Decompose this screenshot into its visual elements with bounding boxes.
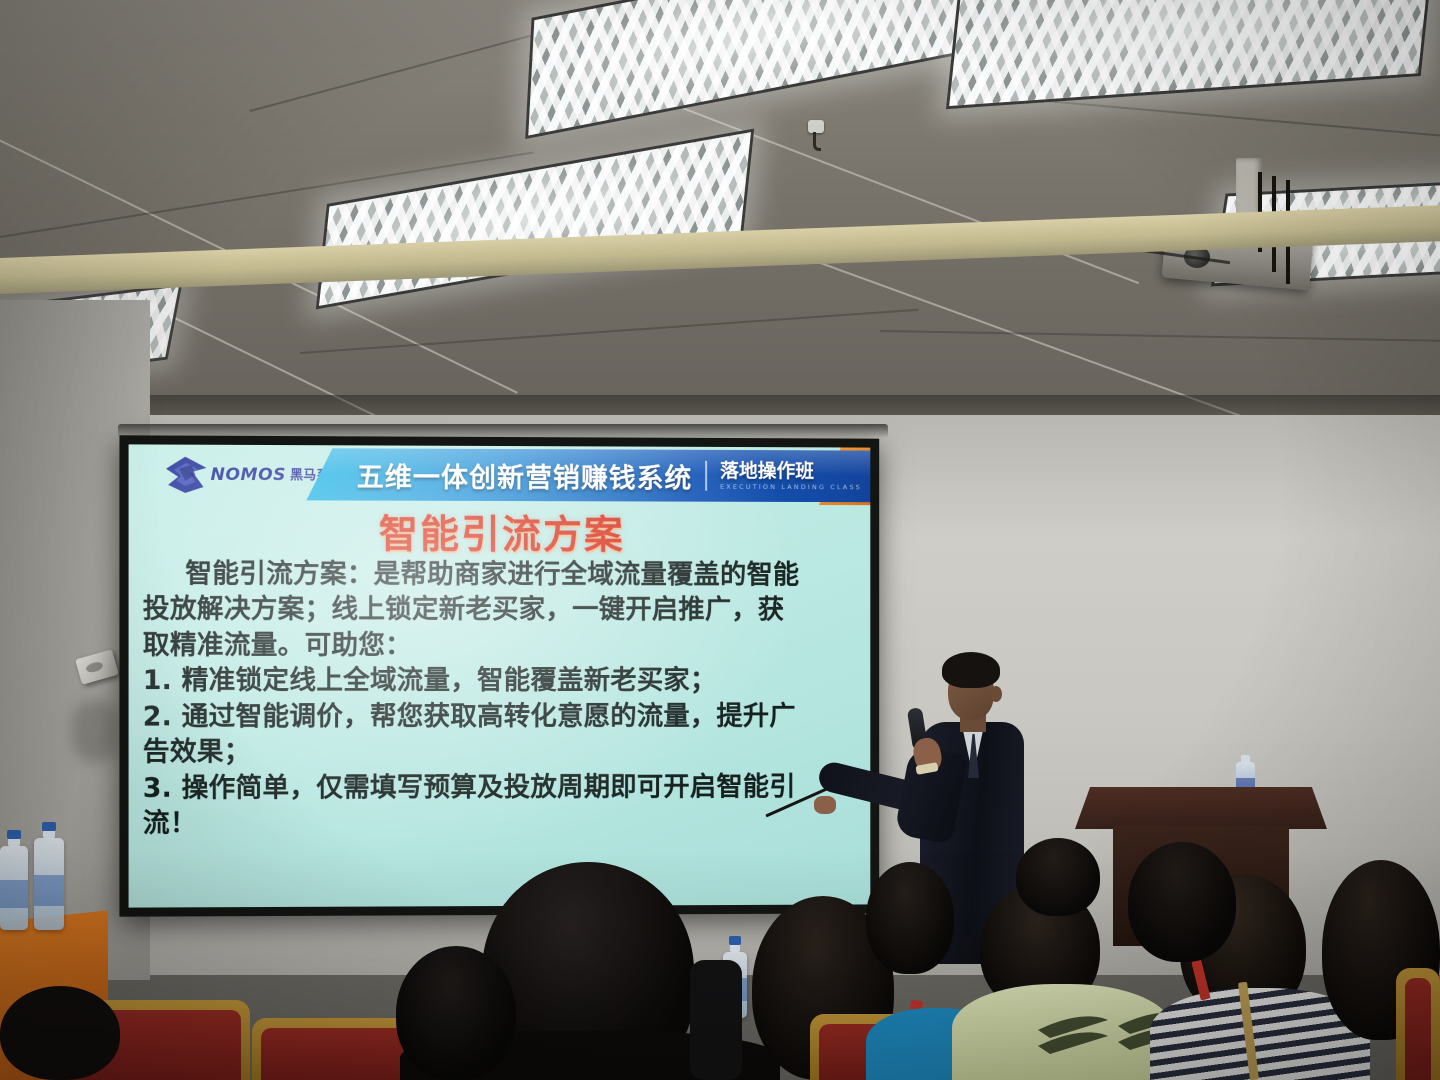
slide-body: 智能引流方案：是帮助商家进行全域流量覆盖的智能 投放解决方案；线上锁定新老买家，…: [143, 557, 859, 842]
slide-paragraph: 投放解决方案；线上锁定新老买家，一键开启推广，获: [143, 593, 859, 628]
slide-paragraph: 智能引流方案：是帮助商家进行全域流量覆盖的智能: [143, 557, 859, 593]
audience-head: [0, 986, 120, 1080]
brand-logo-latin: NOMOS: [211, 466, 286, 483]
conference-room-photo: NOMOS 黑马系统 五维一体创新营销赚钱系统 落地操作班 EXECUTION …: [0, 0, 1440, 1080]
fluorescent-troffer-light: [946, 0, 1434, 109]
audience-head: [396, 946, 516, 1080]
projection-screen: NOMOS 黑马系统 五维一体创新营销赚钱系统 落地操作班 EXECUTION …: [119, 435, 879, 916]
presenter-ear: [990, 686, 1002, 702]
speaker-shadow: [72, 700, 120, 762]
fluorescent-troffer-light: [316, 129, 754, 310]
horse-head-arrow-icon: [165, 455, 207, 495]
podium-top: [1075, 787, 1327, 829]
banner-sub-title-en: EXECUTION LANDING CLASS: [720, 484, 862, 491]
presentation-slide: NOMOS 黑马系统 五维一体创新营销赚钱系统 落地操作班 EXECUTION …: [129, 444, 871, 907]
slide-title: 智能引流方案: [129, 503, 871, 561]
slide-list-item: 2. 通过智能调价，帮您获取高转化意愿的流量，提升广: [143, 700, 859, 735]
audience-head: [690, 960, 742, 1080]
slide-list-item: 3. 操作简单，仅需填写预算及投放周期即可开启智能引: [143, 770, 859, 806]
presenter-far-hand: [814, 796, 836, 814]
presenter-hair: [942, 652, 1000, 688]
fluorescent-troffer-light: [525, 0, 999, 139]
water-bottle: [0, 846, 28, 930]
audience-head: [1016, 838, 1100, 916]
audience-head: [1128, 842, 1236, 962]
water-bottle: [34, 838, 64, 930]
fire-sprinkler-icon: [808, 120, 824, 133]
banquet-chair: [1396, 968, 1440, 1080]
slide-banner: 五维一体创新营销赚钱系统 落地操作班 EXECUTION LANDING CLA…: [306, 448, 870, 502]
slide-header: NOMOS 黑马系统 五维一体创新营销赚钱系统 落地操作班 EXECUTION …: [129, 444, 871, 505]
audience-head: [866, 862, 954, 974]
slide-list-item: 1. 精准锁定线上全域流量，智能覆盖新老买家；: [143, 664, 859, 699]
banner-sheen: [306, 448, 870, 476]
slide-list-item: 告效果；: [143, 735, 859, 770]
slide-list-item: 流！: [143, 805, 859, 841]
slide-paragraph: 取精准流量。可助您：: [143, 629, 859, 664]
